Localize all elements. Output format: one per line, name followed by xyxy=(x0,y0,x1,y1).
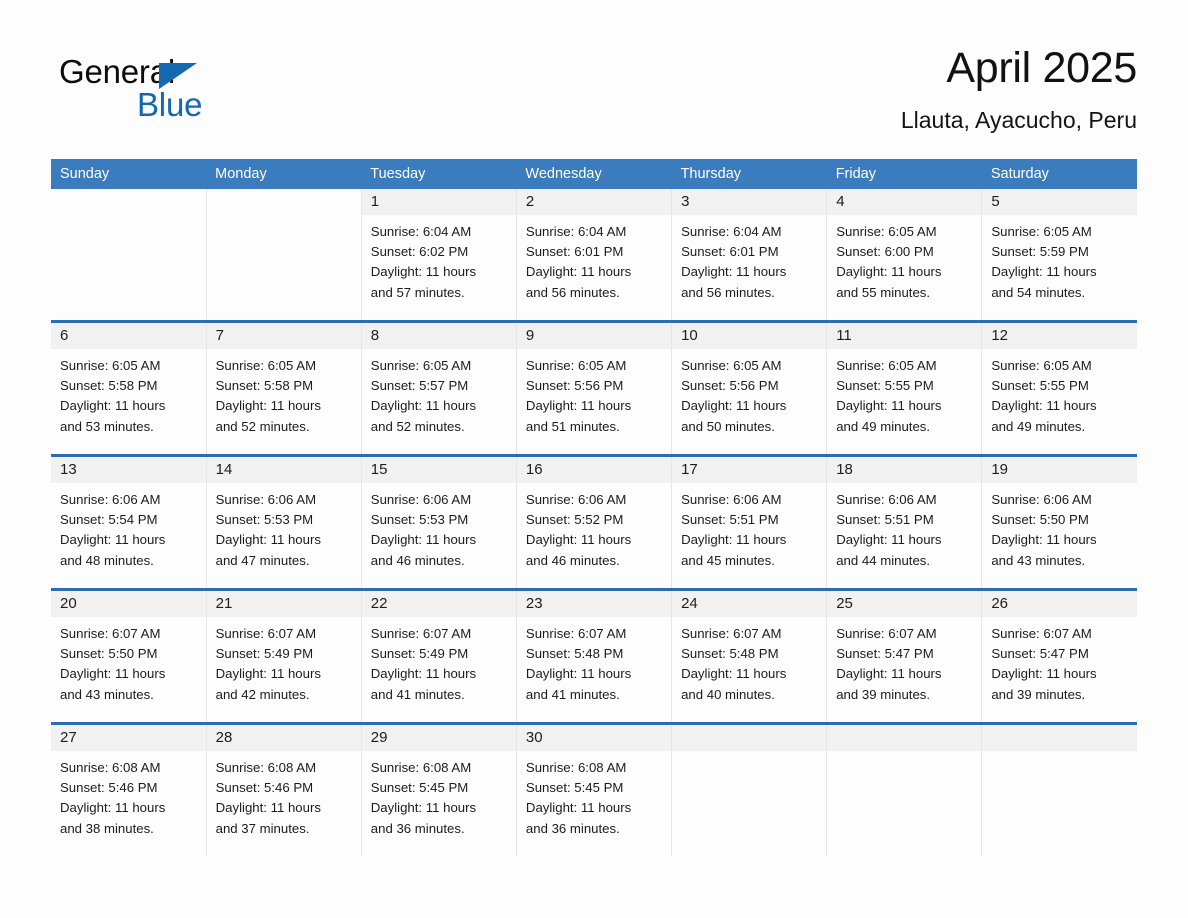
sunrise-time: Sunrise: 6:04 AM xyxy=(681,222,820,242)
day-cell: 6Sunrise: 6:05 AMSunset: 5:58 PMDaylight… xyxy=(51,323,206,454)
sunrise-time: Sunrise: 6:08 AM xyxy=(526,758,665,778)
day-details: Sunrise: 6:06 AMSunset: 5:53 PMDaylight:… xyxy=(207,483,361,571)
day-number: 28 xyxy=(216,729,233,746)
sunset-time: Sunset: 6:00 PM xyxy=(836,242,975,262)
day-number: 5 xyxy=(991,193,999,210)
empty-day-cell xyxy=(827,725,981,856)
day-details: Sunrise: 6:04 AMSunset: 6:01 PMDaylight:… xyxy=(672,215,826,303)
sunset-time: Sunset: 5:48 PM xyxy=(526,644,665,664)
day-number-band: 11 xyxy=(827,323,981,349)
daylight-duration-line2: and 45 minutes. xyxy=(681,551,820,571)
sunrise-time: Sunrise: 6:05 AM xyxy=(60,356,200,376)
day-cell: 26Sunrise: 6:07 AMSunset: 5:47 PMDayligh… xyxy=(982,591,1137,722)
daylight-duration-line2: and 43 minutes. xyxy=(60,685,200,705)
day-cell: 30Sunrise: 6:08 AMSunset: 5:45 PMDayligh… xyxy=(517,725,671,856)
day-details: Sunrise: 6:06 AMSunset: 5:54 PMDaylight:… xyxy=(51,483,206,571)
day-number-band: 30 xyxy=(517,725,671,751)
sunrise-time: Sunrise: 6:05 AM xyxy=(836,222,975,242)
daylight-duration-line2: and 36 minutes. xyxy=(526,819,665,839)
daylight-duration-line1: Daylight: 11 hours xyxy=(216,798,355,818)
daylight-duration-line1: Daylight: 11 hours xyxy=(526,396,665,416)
day-details: Sunrise: 6:05 AMSunset: 5:58 PMDaylight:… xyxy=(51,349,206,437)
day-cell: 23Sunrise: 6:07 AMSunset: 5:48 PMDayligh… xyxy=(517,591,671,722)
day-cell: 11Sunrise: 6:05 AMSunset: 5:55 PMDayligh… xyxy=(827,323,981,454)
sunset-time: Sunset: 5:46 PM xyxy=(60,778,200,798)
day-details: Sunrise: 6:05 AMSunset: 5:56 PMDaylight:… xyxy=(672,349,826,437)
sunset-time: Sunset: 5:52 PM xyxy=(526,510,665,530)
calendar-cell[interactable]: 14Sunrise: 6:06 AMSunset: 5:53 PMDayligh… xyxy=(206,456,361,590)
daylight-duration-line1: Daylight: 11 hours xyxy=(526,262,665,282)
sunset-time: Sunset: 5:47 PM xyxy=(836,644,975,664)
daylight-duration-line1: Daylight: 11 hours xyxy=(526,798,665,818)
weekday-header-wednesday: Wednesday xyxy=(516,159,671,189)
day-number-band: 28 xyxy=(207,725,361,751)
day-number: 12 xyxy=(991,327,1008,344)
daylight-duration-line2: and 49 minutes. xyxy=(991,417,1131,437)
day-number: 15 xyxy=(371,461,388,478)
calendar-week-row: 13Sunrise: 6:06 AMSunset: 5:54 PMDayligh… xyxy=(51,456,1137,590)
calendar-cell[interactable]: 12Sunrise: 6:05 AMSunset: 5:55 PMDayligh… xyxy=(982,322,1137,456)
day-details: Sunrise: 6:05 AMSunset: 5:55 PMDaylight:… xyxy=(827,349,981,437)
sunset-time: Sunset: 5:51 PM xyxy=(681,510,820,530)
sunrise-time: Sunrise: 6:04 AM xyxy=(371,222,510,242)
calendar-cell[interactable]: 23Sunrise: 6:07 AMSunset: 5:48 PMDayligh… xyxy=(516,590,671,724)
day-details: Sunrise: 6:05 AMSunset: 6:00 PMDaylight:… xyxy=(827,215,981,303)
sunrise-time: Sunrise: 6:06 AM xyxy=(526,490,665,510)
calendar-body: 1Sunrise: 6:04 AMSunset: 6:02 PMDaylight… xyxy=(51,189,1137,856)
day-cell: 8Sunrise: 6:05 AMSunset: 5:57 PMDaylight… xyxy=(362,323,516,454)
day-number-band: 16 xyxy=(517,457,671,483)
day-number-band: 24 xyxy=(672,591,826,617)
weekday-header-sunday: Sunday xyxy=(51,159,206,189)
daylight-duration-line1: Daylight: 11 hours xyxy=(681,664,820,684)
empty-day-cell xyxy=(51,189,206,320)
weekday-header-monday: Monday xyxy=(206,159,361,189)
calendar-cell[interactable]: 4Sunrise: 6:05 AMSunset: 6:00 PMDaylight… xyxy=(827,189,982,322)
day-number: 2 xyxy=(526,193,534,210)
sunset-time: Sunset: 5:49 PM xyxy=(216,644,355,664)
calendar-cell[interactable]: 13Sunrise: 6:06 AMSunset: 5:54 PMDayligh… xyxy=(51,456,206,590)
daylight-duration-line2: and 57 minutes. xyxy=(371,283,510,303)
day-number: 11 xyxy=(836,327,852,344)
day-number: 13 xyxy=(60,461,77,478)
daylight-duration-line1: Daylight: 11 hours xyxy=(371,396,510,416)
sunset-time: Sunset: 5:48 PM xyxy=(681,644,820,664)
sunrise-time: Sunrise: 6:07 AM xyxy=(216,624,355,644)
day-number-band: 12 xyxy=(982,323,1137,349)
daylight-duration-line1: Daylight: 11 hours xyxy=(526,530,665,550)
calendar-cell[interactable]: 7Sunrise: 6:05 AMSunset: 5:58 PMDaylight… xyxy=(206,322,361,456)
day-details: Sunrise: 6:04 AMSunset: 6:01 PMDaylight:… xyxy=(517,215,671,303)
sunrise-time: Sunrise: 6:06 AM xyxy=(681,490,820,510)
sunset-time: Sunset: 5:45 PM xyxy=(371,778,510,798)
calendar-cell[interactable]: 22Sunrise: 6:07 AMSunset: 5:49 PMDayligh… xyxy=(361,590,516,724)
day-cell: 21Sunrise: 6:07 AMSunset: 5:49 PMDayligh… xyxy=(207,591,361,722)
day-number: 27 xyxy=(60,729,77,746)
day-number-band: 13 xyxy=(51,457,206,483)
sunrise-time: Sunrise: 6:04 AM xyxy=(526,222,665,242)
calendar-cell xyxy=(827,724,982,857)
day-cell: 15Sunrise: 6:06 AMSunset: 5:53 PMDayligh… xyxy=(362,457,516,588)
sunset-time: Sunset: 5:50 PM xyxy=(60,644,200,664)
calendar-cell[interactable]: 11Sunrise: 6:05 AMSunset: 5:55 PMDayligh… xyxy=(827,322,982,456)
daylight-duration-line2: and 41 minutes. xyxy=(371,685,510,705)
sunrise-time: Sunrise: 6:07 AM xyxy=(991,624,1131,644)
calendar-week-row: 6Sunrise: 6:05 AMSunset: 5:58 PMDaylight… xyxy=(51,322,1137,456)
daylight-duration-line2: and 46 minutes. xyxy=(526,551,665,571)
daylight-duration-line1: Daylight: 11 hours xyxy=(371,798,510,818)
day-number: 9 xyxy=(526,327,534,344)
day-details: Sunrise: 6:06 AMSunset: 5:52 PMDaylight:… xyxy=(517,483,671,571)
sunset-time: Sunset: 5:50 PM xyxy=(991,510,1131,530)
day-number-band xyxy=(827,725,981,751)
calendar-cell[interactable]: 20Sunrise: 6:07 AMSunset: 5:50 PMDayligh… xyxy=(51,590,206,724)
daylight-duration-line1: Daylight: 11 hours xyxy=(371,664,510,684)
day-cell: 10Sunrise: 6:05 AMSunset: 5:56 PMDayligh… xyxy=(672,323,826,454)
day-cell: 5Sunrise: 6:05 AMSunset: 5:59 PMDaylight… xyxy=(982,189,1137,320)
daylight-duration-line1: Daylight: 11 hours xyxy=(216,530,355,550)
calendar-cell[interactable]: 27Sunrise: 6:08 AMSunset: 5:46 PMDayligh… xyxy=(51,724,206,857)
sunset-time: Sunset: 5:57 PM xyxy=(371,376,510,396)
day-number-band: 21 xyxy=(207,591,361,617)
daylight-duration-line2: and 39 minutes. xyxy=(836,685,975,705)
day-number-band: 4 xyxy=(827,189,981,215)
day-cell: 29Sunrise: 6:08 AMSunset: 5:45 PMDayligh… xyxy=(362,725,516,856)
calendar-cell[interactable]: 2Sunrise: 6:04 AMSunset: 6:01 PMDaylight… xyxy=(516,189,671,322)
day-cell: 28Sunrise: 6:08 AMSunset: 5:46 PMDayligh… xyxy=(207,725,361,856)
sunset-time: Sunset: 6:01 PM xyxy=(526,242,665,262)
daylight-duration-line2: and 56 minutes. xyxy=(681,283,820,303)
daylight-duration-line1: Daylight: 11 hours xyxy=(216,396,355,416)
day-number-band: 2 xyxy=(517,189,671,215)
daylight-duration-line2: and 36 minutes. xyxy=(371,819,510,839)
daylight-duration-line2: and 51 minutes. xyxy=(526,417,665,437)
calendar-cell[interactable]: 19Sunrise: 6:06 AMSunset: 5:50 PMDayligh… xyxy=(982,456,1137,590)
calendar-cell[interactable]: 30Sunrise: 6:08 AMSunset: 5:45 PMDayligh… xyxy=(516,724,671,857)
day-cell: 24Sunrise: 6:07 AMSunset: 5:48 PMDayligh… xyxy=(672,591,826,722)
daylight-duration-line1: Daylight: 11 hours xyxy=(991,396,1131,416)
calendar-cell xyxy=(672,724,827,857)
sunrise-time: Sunrise: 6:06 AM xyxy=(371,490,510,510)
sunrise-time: Sunrise: 6:06 AM xyxy=(216,490,355,510)
calendar-cell xyxy=(982,724,1137,857)
day-details: Sunrise: 6:08 AMSunset: 5:45 PMDaylight:… xyxy=(517,751,671,839)
sunset-time: Sunset: 5:47 PM xyxy=(991,644,1131,664)
day-details: Sunrise: 6:07 AMSunset: 5:49 PMDaylight:… xyxy=(207,617,361,705)
calendar-week-row: 20Sunrise: 6:07 AMSunset: 5:50 PMDayligh… xyxy=(51,590,1137,724)
sunrise-time: Sunrise: 6:08 AM xyxy=(216,758,355,778)
day-number: 24 xyxy=(681,595,698,612)
day-number: 29 xyxy=(371,729,388,746)
calendar-cell[interactable]: 29Sunrise: 6:08 AMSunset: 5:45 PMDayligh… xyxy=(361,724,516,857)
calendar-cell[interactable]: 10Sunrise: 6:05 AMSunset: 5:56 PMDayligh… xyxy=(672,322,827,456)
day-number: 8 xyxy=(371,327,379,344)
day-cell: 4Sunrise: 6:05 AMSunset: 6:00 PMDaylight… xyxy=(827,189,981,320)
sunset-time: Sunset: 5:56 PM xyxy=(681,376,820,396)
logo-text-blue: Blue xyxy=(137,85,202,125)
calendar-cell[interactable]: 18Sunrise: 6:06 AMSunset: 5:51 PMDayligh… xyxy=(827,456,982,590)
sunrise-time: Sunrise: 6:06 AM xyxy=(991,490,1131,510)
calendar-cell[interactable]: 26Sunrise: 6:07 AMSunset: 5:47 PMDayligh… xyxy=(982,590,1137,724)
daylight-duration-line2: and 52 minutes. xyxy=(216,417,355,437)
title-block: April 2025 Llauta, Ayacucho, Peru xyxy=(901,40,1137,137)
sunset-time: Sunset: 5:58 PM xyxy=(216,376,355,396)
page-title: April 2025 xyxy=(901,40,1137,96)
daylight-duration-line2: and 55 minutes. xyxy=(836,283,975,303)
day-number: 23 xyxy=(526,595,543,612)
sunrise-time: Sunrise: 6:07 AM xyxy=(371,624,510,644)
weekday-header-tuesday: Tuesday xyxy=(361,159,516,189)
calendar-cell[interactable]: 9Sunrise: 6:05 AMSunset: 5:56 PMDaylight… xyxy=(516,322,671,456)
day-number: 14 xyxy=(216,461,233,478)
day-details: Sunrise: 6:05 AMSunset: 5:56 PMDaylight:… xyxy=(517,349,671,437)
daylight-duration-line2: and 46 minutes. xyxy=(371,551,510,571)
daylight-duration-line1: Daylight: 11 hours xyxy=(681,262,820,282)
weekday-header-saturday: Saturday xyxy=(982,159,1137,189)
daylight-duration-line1: Daylight: 11 hours xyxy=(60,798,200,818)
day-number: 6 xyxy=(60,327,68,344)
day-number: 22 xyxy=(371,595,388,612)
day-number-band: 3 xyxy=(672,189,826,215)
sunset-time: Sunset: 5:59 PM xyxy=(991,242,1131,262)
calendar-cell xyxy=(206,189,361,322)
calendar-week-row: 1Sunrise: 6:04 AMSunset: 6:02 PMDaylight… xyxy=(51,189,1137,322)
day-number-band: 7 xyxy=(207,323,361,349)
sunset-time: Sunset: 5:56 PM xyxy=(526,376,665,396)
sunrise-time: Sunrise: 6:05 AM xyxy=(991,222,1131,242)
day-number: 3 xyxy=(681,193,689,210)
day-number-band: 23 xyxy=(517,591,671,617)
day-cell: 20Sunrise: 6:07 AMSunset: 5:50 PMDayligh… xyxy=(51,591,206,722)
day-cell: 9Sunrise: 6:05 AMSunset: 5:56 PMDaylight… xyxy=(517,323,671,454)
day-details: Sunrise: 6:05 AMSunset: 5:55 PMDaylight:… xyxy=(982,349,1137,437)
calendar-cell[interactable]: 16Sunrise: 6:06 AMSunset: 5:52 PMDayligh… xyxy=(516,456,671,590)
sunset-time: Sunset: 5:55 PM xyxy=(836,376,975,396)
daylight-duration-line1: Daylight: 11 hours xyxy=(991,262,1131,282)
day-details: Sunrise: 6:06 AMSunset: 5:51 PMDaylight:… xyxy=(672,483,826,571)
day-details: Sunrise: 6:08 AMSunset: 5:45 PMDaylight:… xyxy=(362,751,516,839)
day-number-band: 22 xyxy=(362,591,516,617)
calendar-cell[interactable]: 3Sunrise: 6:04 AMSunset: 6:01 PMDaylight… xyxy=(672,189,827,322)
sunset-time: Sunset: 5:46 PM xyxy=(216,778,355,798)
day-number-band: 27 xyxy=(51,725,206,751)
day-number-band: 9 xyxy=(517,323,671,349)
sunrise-time: Sunrise: 6:06 AM xyxy=(836,490,975,510)
day-cell: 3Sunrise: 6:04 AMSunset: 6:01 PMDaylight… xyxy=(672,189,826,320)
daylight-duration-line1: Daylight: 11 hours xyxy=(836,396,975,416)
sunrise-time: Sunrise: 6:05 AM xyxy=(526,356,665,376)
day-number-band: 17 xyxy=(672,457,826,483)
day-cell: 25Sunrise: 6:07 AMSunset: 5:47 PMDayligh… xyxy=(827,591,981,722)
daylight-duration-line1: Daylight: 11 hours xyxy=(681,530,820,550)
daylight-duration-line2: and 50 minutes. xyxy=(681,417,820,437)
day-details: Sunrise: 6:04 AMSunset: 6:02 PMDaylight:… xyxy=(362,215,516,303)
daylight-duration-line1: Daylight: 11 hours xyxy=(371,262,510,282)
sunset-time: Sunset: 6:01 PM xyxy=(681,242,820,262)
day-number-band xyxy=(51,189,206,215)
day-details: Sunrise: 6:07 AMSunset: 5:47 PMDaylight:… xyxy=(982,617,1137,705)
weekday-header-thursday: Thursday xyxy=(672,159,827,189)
daylight-duration-line2: and 42 minutes. xyxy=(216,685,355,705)
day-number-band: 10 xyxy=(672,323,826,349)
day-cell: 19Sunrise: 6:06 AMSunset: 5:50 PMDayligh… xyxy=(982,457,1137,588)
day-details: Sunrise: 6:07 AMSunset: 5:50 PMDaylight:… xyxy=(51,617,206,705)
sunrise-time: Sunrise: 6:05 AM xyxy=(991,356,1131,376)
day-cell: 12Sunrise: 6:05 AMSunset: 5:55 PMDayligh… xyxy=(982,323,1137,454)
daylight-duration-line1: Daylight: 11 hours xyxy=(991,664,1131,684)
day-number-band: 1 xyxy=(362,189,516,215)
day-number: 18 xyxy=(836,461,853,478)
day-number-band xyxy=(207,189,361,215)
day-details: Sunrise: 6:07 AMSunset: 5:49 PMDaylight:… xyxy=(362,617,516,705)
calendar-header-row: Sunday Monday Tuesday Wednesday Thursday… xyxy=(51,159,1137,189)
sunrise-time: Sunrise: 6:05 AM xyxy=(836,356,975,376)
day-cell: 7Sunrise: 6:05 AMSunset: 5:58 PMDaylight… xyxy=(207,323,361,454)
day-number: 17 xyxy=(681,461,698,478)
daylight-duration-line2: and 47 minutes. xyxy=(216,551,355,571)
day-number-band: 29 xyxy=(362,725,516,751)
sunrise-time: Sunrise: 6:07 AM xyxy=(526,624,665,644)
sunrise-time: Sunrise: 6:08 AM xyxy=(371,758,510,778)
day-details: Sunrise: 6:06 AMSunset: 5:53 PMDaylight:… xyxy=(362,483,516,571)
day-number-band xyxy=(672,725,826,751)
day-number: 26 xyxy=(991,595,1008,612)
day-cell: 16Sunrise: 6:06 AMSunset: 5:52 PMDayligh… xyxy=(517,457,671,588)
day-cell: 18Sunrise: 6:06 AMSunset: 5:51 PMDayligh… xyxy=(827,457,981,588)
day-number-band: 5 xyxy=(982,189,1137,215)
daylight-duration-line2: and 43 minutes. xyxy=(991,551,1131,571)
day-number-band: 14 xyxy=(207,457,361,483)
day-number-band xyxy=(982,725,1137,751)
daylight-duration-line1: Daylight: 11 hours xyxy=(526,664,665,684)
calendar-page: General Blue April 2025 Llauta, Ayacucho… xyxy=(0,0,1188,918)
daylight-duration-line2: and 39 minutes. xyxy=(991,685,1131,705)
day-number: 1 xyxy=(371,193,379,210)
day-number-band: 20 xyxy=(51,591,206,617)
page-header: General Blue April 2025 Llauta, Ayacucho… xyxy=(51,40,1137,150)
day-number-band: 6 xyxy=(51,323,206,349)
day-details: Sunrise: 6:06 AMSunset: 5:51 PMDaylight:… xyxy=(827,483,981,571)
daylight-duration-line2: and 38 minutes. xyxy=(60,819,200,839)
sunrise-time: Sunrise: 6:06 AM xyxy=(60,490,200,510)
empty-day-cell xyxy=(207,189,361,320)
sunrise-time: Sunrise: 6:07 AM xyxy=(60,624,200,644)
day-cell: 22Sunrise: 6:07 AMSunset: 5:49 PMDayligh… xyxy=(362,591,516,722)
sunset-time: Sunset: 6:02 PM xyxy=(371,242,510,262)
sunrise-time: Sunrise: 6:07 AM xyxy=(681,624,820,644)
day-details: Sunrise: 6:08 AMSunset: 5:46 PMDaylight:… xyxy=(51,751,206,839)
daylight-duration-line2: and 56 minutes. xyxy=(526,283,665,303)
day-number: 7 xyxy=(216,327,224,344)
day-number-band: 8 xyxy=(362,323,516,349)
daylight-duration-line2: and 44 minutes. xyxy=(836,551,975,571)
daylight-duration-line2: and 40 minutes. xyxy=(681,685,820,705)
sunrise-time: Sunrise: 6:05 AM xyxy=(216,356,355,376)
calendar-cell[interactable]: 24Sunrise: 6:07 AMSunset: 5:48 PMDayligh… xyxy=(672,590,827,724)
day-cell: 17Sunrise: 6:06 AMSunset: 5:51 PMDayligh… xyxy=(672,457,826,588)
sunrise-time: Sunrise: 6:05 AM xyxy=(681,356,820,376)
daylight-duration-line1: Daylight: 11 hours xyxy=(836,664,975,684)
day-number: 16 xyxy=(526,461,543,478)
day-number: 10 xyxy=(681,327,698,344)
daylight-duration-line1: Daylight: 11 hours xyxy=(681,396,820,416)
daylight-duration-line2: and 49 minutes. xyxy=(836,417,975,437)
calendar-cell[interactable]: 17Sunrise: 6:06 AMSunset: 5:51 PMDayligh… xyxy=(672,456,827,590)
daylight-duration-line2: and 41 minutes. xyxy=(526,685,665,705)
day-details: Sunrise: 6:05 AMSunset: 5:57 PMDaylight:… xyxy=(362,349,516,437)
sunset-time: Sunset: 5:53 PM xyxy=(216,510,355,530)
day-number: 25 xyxy=(836,595,853,612)
day-number-band: 19 xyxy=(982,457,1137,483)
calendar-cell[interactable]: 25Sunrise: 6:07 AMSunset: 5:47 PMDayligh… xyxy=(827,590,982,724)
daylight-duration-line1: Daylight: 11 hours xyxy=(216,664,355,684)
day-details: Sunrise: 6:05 AMSunset: 5:59 PMDaylight:… xyxy=(982,215,1137,303)
day-details: Sunrise: 6:08 AMSunset: 5:46 PMDaylight:… xyxy=(207,751,361,839)
day-number-band: 25 xyxy=(827,591,981,617)
day-number: 30 xyxy=(526,729,543,746)
sunset-time: Sunset: 5:45 PM xyxy=(526,778,665,798)
sunset-time: Sunset: 5:58 PM xyxy=(60,376,200,396)
sunset-time: Sunset: 5:51 PM xyxy=(836,510,975,530)
daylight-duration-line1: Daylight: 11 hours xyxy=(836,262,975,282)
daylight-duration-line1: Daylight: 11 hours xyxy=(60,530,200,550)
day-cell: 1Sunrise: 6:04 AMSunset: 6:02 PMDaylight… xyxy=(362,189,516,320)
day-number: 21 xyxy=(216,595,233,612)
calendar-cell[interactable]: 15Sunrise: 6:06 AMSunset: 5:53 PMDayligh… xyxy=(361,456,516,590)
daylight-duration-line2: and 53 minutes. xyxy=(60,417,200,437)
daylight-duration-line2: and 48 minutes. xyxy=(60,551,200,571)
daylight-duration-line1: Daylight: 11 hours xyxy=(371,530,510,550)
calendar-cell xyxy=(51,189,206,322)
day-details: Sunrise: 6:05 AMSunset: 5:58 PMDaylight:… xyxy=(207,349,361,437)
sunset-time: Sunset: 5:49 PM xyxy=(371,644,510,664)
day-cell: 27Sunrise: 6:08 AMSunset: 5:46 PMDayligh… xyxy=(51,725,206,856)
location-subtitle: Llauta, Ayacucho, Peru xyxy=(901,103,1137,137)
calendar-cell[interactable]: 5Sunrise: 6:05 AMSunset: 5:59 PMDaylight… xyxy=(982,189,1137,322)
day-number: 19 xyxy=(991,461,1008,478)
daylight-duration-line1: Daylight: 11 hours xyxy=(836,530,975,550)
general-blue-logo[interactable]: General Blue xyxy=(59,52,399,138)
calendar-cell[interactable]: 21Sunrise: 6:07 AMSunset: 5:49 PMDayligh… xyxy=(206,590,361,724)
calendar-cell[interactable]: 1Sunrise: 6:04 AMSunset: 6:02 PMDaylight… xyxy=(361,189,516,322)
day-details: Sunrise: 6:07 AMSunset: 5:48 PMDaylight:… xyxy=(672,617,826,705)
sunrise-time: Sunrise: 6:05 AM xyxy=(371,356,510,376)
empty-day-cell xyxy=(672,725,826,856)
sunset-time: Sunset: 5:54 PM xyxy=(60,510,200,530)
day-details: Sunrise: 6:07 AMSunset: 5:48 PMDaylight:… xyxy=(517,617,671,705)
day-details: Sunrise: 6:07 AMSunset: 5:47 PMDaylight:… xyxy=(827,617,981,705)
day-number-band: 26 xyxy=(982,591,1137,617)
daylight-duration-line1: Daylight: 11 hours xyxy=(60,396,200,416)
day-cell: 14Sunrise: 6:06 AMSunset: 5:53 PMDayligh… xyxy=(207,457,361,588)
calendar-cell[interactable]: 8Sunrise: 6:05 AMSunset: 5:57 PMDaylight… xyxy=(361,322,516,456)
sunset-time: Sunset: 5:55 PM xyxy=(991,376,1131,396)
weekday-header-friday: Friday xyxy=(827,159,982,189)
daylight-duration-line2: and 52 minutes. xyxy=(371,417,510,437)
day-details: Sunrise: 6:06 AMSunset: 5:50 PMDaylight:… xyxy=(982,483,1137,571)
sunrise-sunset-calendar: Sunday Monday Tuesday Wednesday Thursday… xyxy=(51,159,1137,856)
calendar-cell[interactable]: 28Sunrise: 6:08 AMSunset: 5:46 PMDayligh… xyxy=(206,724,361,857)
sunrise-time: Sunrise: 6:07 AM xyxy=(836,624,975,644)
daylight-duration-line1: Daylight: 11 hours xyxy=(60,664,200,684)
empty-day-cell xyxy=(982,725,1137,856)
calendar-cell[interactable]: 6Sunrise: 6:05 AMSunset: 5:58 PMDaylight… xyxy=(51,322,206,456)
daylight-duration-line1: Daylight: 11 hours xyxy=(991,530,1131,550)
day-number: 20 xyxy=(60,595,77,612)
day-number-band: 18 xyxy=(827,457,981,483)
day-number: 4 xyxy=(836,193,844,210)
daylight-duration-line2: and 54 minutes. xyxy=(991,283,1131,303)
